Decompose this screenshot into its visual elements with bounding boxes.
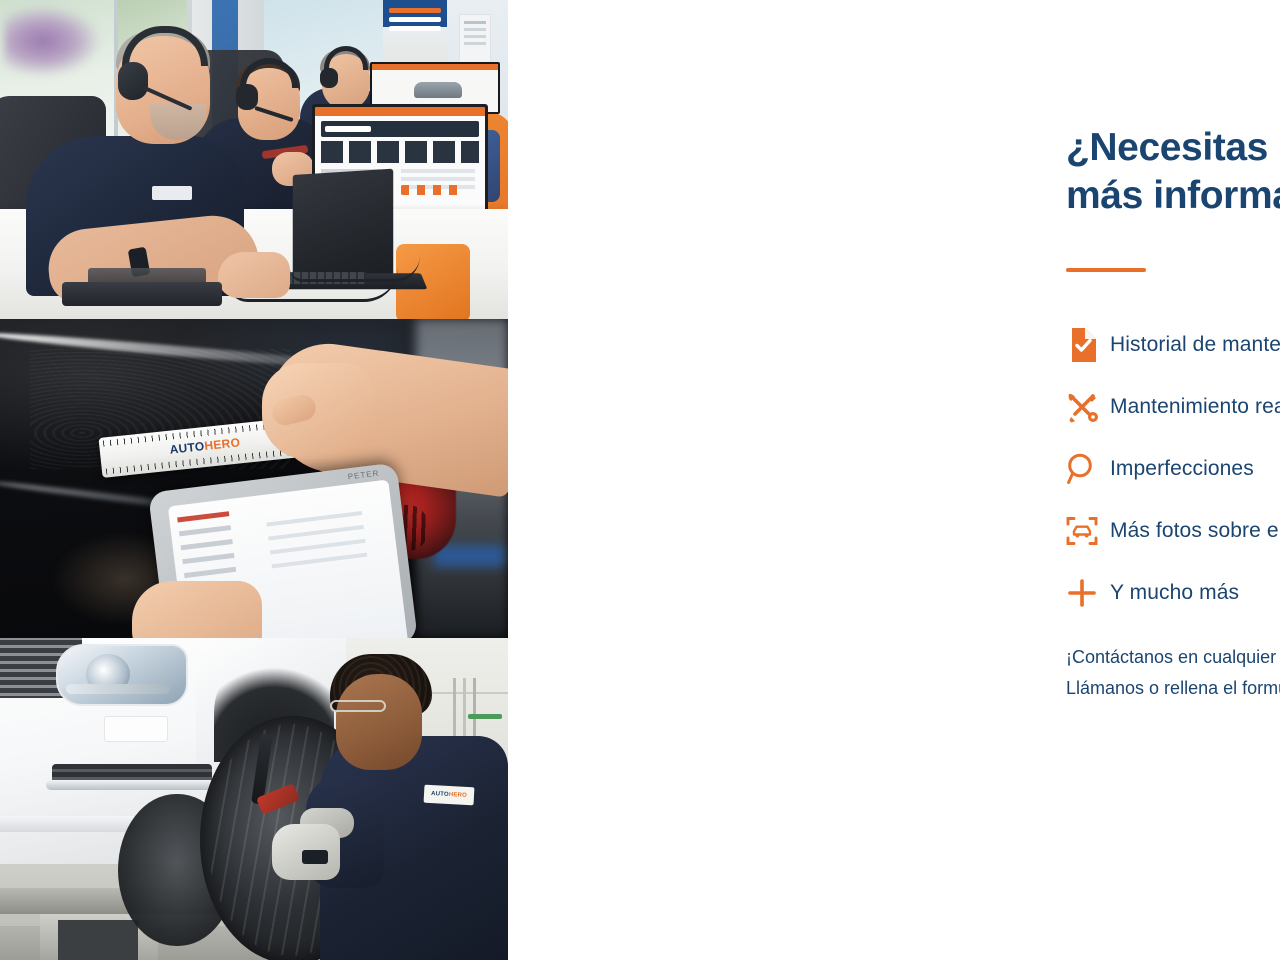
list-item: Más fotos sobre el coche [1066,500,1280,562]
content-panel: ¿Necesitas más información? Historial de… [508,0,1280,960]
list-item-label: Más fotos sobre el coche [1110,519,1280,543]
list-item-label: Historial de mantenimientos [1110,333,1280,357]
car-inspection-ruler-photo: AUTOHERO PETER [0,319,508,638]
list-item: Imperfecciones [1066,438,1280,500]
polo-badge-auto: AUTO [431,791,449,798]
ruler-logo-hero: HERO [204,435,241,453]
page-title-line-1: ¿Necesitas [1066,124,1280,172]
list-item: Historial de mantenimientos [1066,314,1280,376]
page-title-line-2: más información? [1066,172,1280,220]
polo-badge-hero: HERO [449,792,467,799]
document-check-icon [1066,328,1110,362]
contact-line-1: ¡Contáctanos en cualquier momento para m… [1066,642,1280,673]
call-center-agents-photo [0,0,508,319]
list-item: Mantenimiento realizado [1066,376,1280,438]
page-title: ¿Necesitas más información? [1066,124,1280,219]
tools-wrench-screwdriver-icon [1066,391,1110,423]
contact-line-2: Llámanos o rellena el formulario de cont… [1066,673,1280,704]
ruler-logo-auto: AUTO [169,439,205,457]
feature-list: Historial de mantenimientos [1066,314,1280,624]
workshop-tire-photo: AUTOHERO [0,638,508,960]
plus-icon [1066,577,1110,609]
list-item-label: Y mucho más [1110,581,1239,605]
list-item-label: Mantenimiento realizado [1110,395,1280,419]
title-divider [1066,268,1146,272]
magnifier-icon [1066,453,1110,485]
autohero-polo-badge: AUTOHERO [424,785,475,806]
list-item: Y mucho más [1066,562,1280,624]
promo-page: AUTOHERO PETER [0,0,1280,960]
list-item-label: Imperfecciones [1110,457,1254,481]
contact-text: ¡Contáctanos en cualquier momento para m… [1066,642,1280,704]
photo-column: AUTOHERO PETER [0,0,508,960]
car-photo-frame-icon [1066,515,1110,547]
